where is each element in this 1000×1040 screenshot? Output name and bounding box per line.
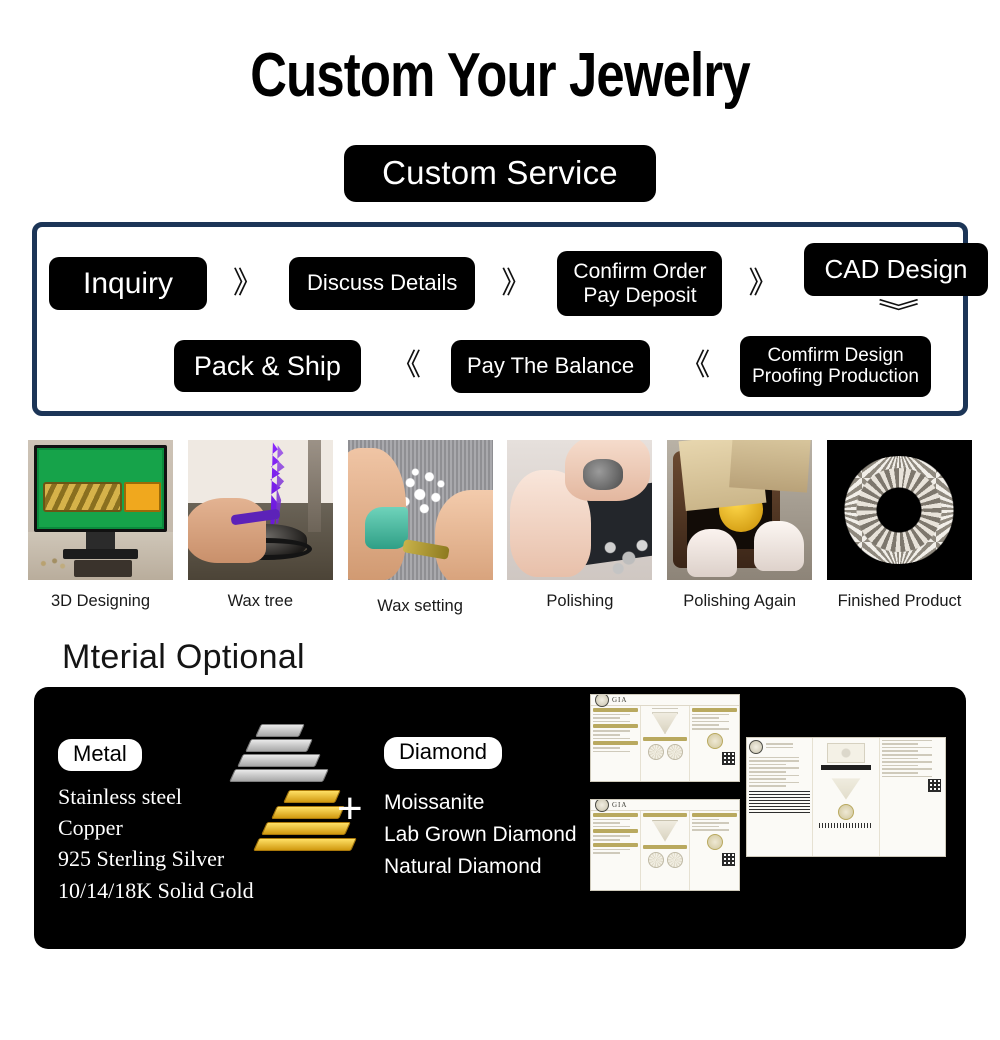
certificate-columns bbox=[591, 811, 739, 890]
polishing-again-illustration bbox=[667, 440, 812, 580]
certificate-column bbox=[689, 706, 739, 781]
certificate-logo: GIA bbox=[612, 696, 627, 704]
flow-step-cad-design-label: CAD Design bbox=[824, 255, 967, 284]
certificate-column bbox=[689, 811, 739, 890]
chevron-right-icon: 》 bbox=[229, 269, 267, 299]
gallery-item-polishing[interactable]: Polishing bbox=[507, 440, 652, 616]
wax-setting-illustration bbox=[348, 440, 493, 580]
plus-icon: + bbox=[337, 787, 363, 831]
metal-pill-label: Metal bbox=[58, 739, 142, 771]
gallery-thumb-polishing bbox=[507, 440, 652, 580]
process-flow-row-2: Pack & Ship 《 Pay The Balance 《 Comfirm … bbox=[49, 336, 951, 397]
diamond-list: Moissanite Lab Grown Diamond Natural Dia… bbox=[384, 787, 577, 883]
chevron-down-icon: 》 bbox=[875, 298, 917, 324]
certificate-column bbox=[747, 738, 812, 856]
cuban-chain-illustration bbox=[827, 440, 972, 580]
diamond-list-item: Lab Grown Diamond bbox=[384, 819, 577, 851]
flow-step-confirm-design[interactable]: Comfirm Design Proofing Production bbox=[740, 336, 931, 397]
chevron-right-icon: 》 bbox=[744, 269, 782, 299]
material-section-heading: Mterial Optional bbox=[62, 638, 1000, 677]
gallery-caption: Wax setting bbox=[377, 597, 463, 616]
gallery-caption: Finished Product bbox=[838, 592, 962, 611]
flow-step-discuss-details-label: Discuss Details bbox=[307, 271, 457, 296]
gallery-item-3d-designing[interactable]: 3D Designing bbox=[28, 440, 173, 616]
silver-bars-illustration bbox=[232, 724, 328, 784]
gallery-thumb-3d-designing bbox=[28, 440, 173, 580]
metal-block: Metal Stainless steel Copper 925 Sterlin… bbox=[58, 739, 254, 906]
gallery-item-finished-product[interactable]: Finished Product bbox=[827, 440, 972, 616]
diamond-cut-diagram bbox=[829, 774, 863, 800]
gallery-item-wax-tree[interactable]: Wax tree bbox=[188, 440, 333, 616]
process-flow-row-1: Inquiry 》 Discuss Details 》 Confirm Orde… bbox=[49, 243, 951, 324]
diamond-list-item: Natural Diamond bbox=[384, 851, 577, 883]
certificate-column bbox=[591, 811, 640, 890]
flow-step-pack-ship-label: Pack & Ship bbox=[194, 351, 341, 381]
flow-step-confirm-design-line2: Proofing Production bbox=[752, 366, 919, 387]
certificate-column bbox=[640, 811, 690, 890]
metal-list-item: Copper bbox=[58, 812, 254, 843]
gallery-item-wax-setting[interactable]: Wax setting bbox=[348, 440, 493, 616]
flow-step-inquiry[interactable]: Inquiry bbox=[49, 257, 207, 311]
flow-step-confirm-order[interactable]: Confirm Order Pay Deposit bbox=[557, 251, 722, 316]
qr-code-icon bbox=[722, 853, 735, 866]
gallery-thumb-polishing-again bbox=[667, 440, 812, 580]
process-gallery: 3D Designing Wax tree bbox=[28, 440, 972, 616]
gallery-thumb-wax-tree bbox=[188, 440, 333, 580]
chevron-left-icon: 《 bbox=[387, 351, 425, 381]
gallery-caption: 3D Designing bbox=[51, 592, 150, 611]
wax-tree-illustration bbox=[188, 440, 333, 580]
flow-step-confirm-order-line2: Pay Deposit bbox=[583, 284, 696, 308]
flow-step-inquiry-label: Inquiry bbox=[83, 267, 173, 301]
qr-code-icon bbox=[722, 752, 735, 765]
certificate-header: GIA bbox=[591, 695, 739, 706]
flow-step-cad-design[interactable]: CAD Design bbox=[804, 243, 987, 296]
report-seal-icon bbox=[749, 740, 763, 754]
certificate-logo: GIA bbox=[612, 801, 627, 809]
certificate-header: GIA bbox=[591, 800, 739, 811]
flow-step-pack-ship[interactable]: Pack & Ship bbox=[174, 340, 361, 392]
gallery-caption: Wax tree bbox=[228, 592, 293, 611]
custom-service-badge-row: Custom Service bbox=[0, 145, 1000, 202]
material-panel: Metal Stainless steel Copper 925 Sterlin… bbox=[34, 687, 966, 949]
qr-code-icon bbox=[928, 779, 941, 792]
certificate-column bbox=[812, 738, 878, 856]
chevron-left-icon: 《 bbox=[676, 351, 714, 381]
gallery-caption: Polishing Again bbox=[683, 592, 796, 611]
chevron-right-icon: 》 bbox=[497, 269, 535, 299]
diamond-block: Diamond Moissanite Lab Grown Diamond Nat… bbox=[384, 737, 577, 883]
certificate-column bbox=[879, 738, 945, 856]
polishing-illustration bbox=[507, 440, 652, 580]
certificate-column bbox=[591, 706, 640, 781]
flow-step-pay-balance[interactable]: Pay The Balance bbox=[451, 340, 650, 393]
flow-step-confirm-order-line1: Confirm Order bbox=[573, 260, 706, 284]
process-flow-container: Inquiry 》 Discuss Details 》 Confirm Orde… bbox=[32, 222, 968, 416]
diamond-list-item: Moissanite bbox=[384, 787, 577, 819]
certificate-column bbox=[640, 706, 690, 781]
gia-certificate-bottom[interactable]: GIA bbox=[590, 799, 740, 891]
certificate-columns bbox=[591, 706, 739, 781]
gallery-thumb-finished-product bbox=[827, 440, 972, 580]
gallery-caption: Polishing bbox=[546, 592, 613, 611]
gallery-item-polishing-again[interactable]: Polishing Again bbox=[667, 440, 812, 616]
custom-service-badge: Custom Service bbox=[344, 145, 656, 202]
metal-list-item: 925 Sterling Silver bbox=[58, 843, 254, 874]
gallery-thumb-wax-setting bbox=[348, 440, 493, 580]
metal-list-item: 10/14/18K Solid Gold bbox=[58, 875, 254, 906]
gia-certificate-top[interactable]: GIA bbox=[590, 694, 740, 782]
metal-list-item: Stainless steel bbox=[58, 781, 254, 812]
certificate-columns bbox=[747, 738, 945, 856]
flow-step-cad-design-column: CAD Design 》 bbox=[804, 243, 987, 324]
flow-step-confirm-design-line1: Comfirm Design bbox=[767, 345, 903, 366]
diamond-pill-label: Diamond bbox=[384, 737, 502, 769]
cad-monitor-illustration bbox=[28, 440, 173, 580]
report-round-seal-icon bbox=[838, 804, 854, 820]
flow-step-discuss-details[interactable]: Discuss Details bbox=[289, 257, 475, 310]
flow-step-pay-balance-label: Pay The Balance bbox=[467, 354, 634, 379]
diamond-photo bbox=[827, 743, 865, 763]
page-title: Custom Your Jewelry bbox=[90, 40, 910, 111]
metal-list: Stainless steel Copper 925 Sterling Silv… bbox=[58, 781, 254, 906]
diamond-grading-report[interactable] bbox=[746, 737, 946, 857]
